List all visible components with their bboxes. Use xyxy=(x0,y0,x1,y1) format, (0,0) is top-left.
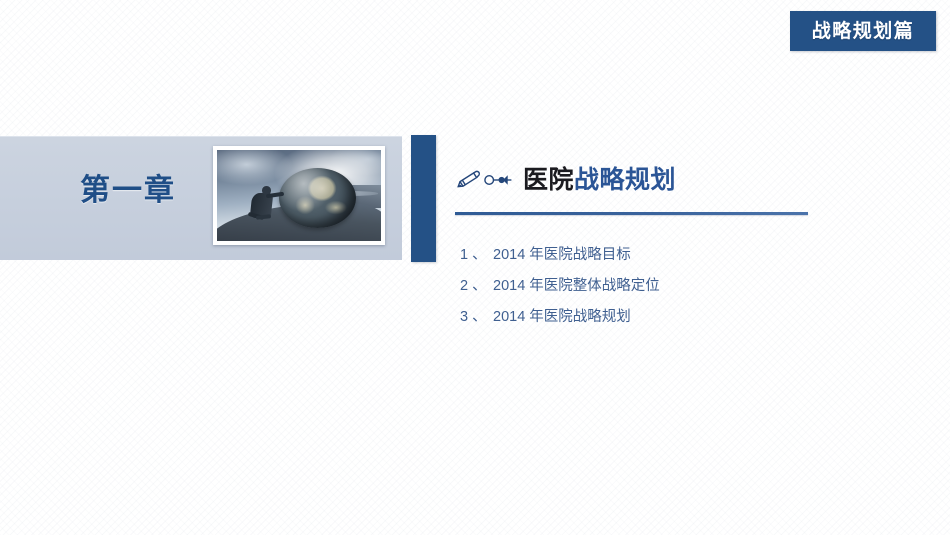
list-item-number: 1 、 xyxy=(460,240,493,271)
pencil-icon xyxy=(455,170,481,190)
list-item-number: 2 、 xyxy=(460,271,493,302)
chapter-photo-frame xyxy=(213,146,385,245)
page-title-accent: 战略规划 xyxy=(574,166,676,194)
list-item-label: 2014 年医院战略规划 xyxy=(493,302,631,333)
list-item[interactable]: 3 、 2014 年医院战略规划 xyxy=(460,302,840,333)
section-badge-label: 战略规划篇 xyxy=(812,22,915,41)
list-item-number: 3 、 xyxy=(460,302,493,333)
page-title-primary: 医院 xyxy=(523,166,574,194)
chapter-title: 第一章 xyxy=(48,176,208,206)
slide-canvas: 战略规划篇 第一章 xyxy=(0,0,950,535)
section-badge: 战略规划篇 xyxy=(790,11,936,51)
list-item[interactable]: 1 、 2014 年医院战略目标 xyxy=(460,240,840,271)
list-item-label: 2014 年医院整体战略定位 xyxy=(493,271,660,302)
heading-underline xyxy=(455,212,808,215)
list-item[interactable]: 2 、 2014 年医院整体战略定位 xyxy=(460,271,840,302)
page-title: 医院战略规划 xyxy=(523,168,676,193)
heading-row: 医院战略规划 xyxy=(455,160,855,200)
globe-push-photo xyxy=(217,150,381,241)
accent-divider-bar xyxy=(411,135,436,262)
content-area: 医院战略规划 1 、 2014 年医院战略目标 2 、 2014 年医院整体战略… xyxy=(455,160,855,200)
link-connector-icon xyxy=(483,171,513,189)
heading-icon-group xyxy=(455,170,523,190)
agenda-list: 1 、 2014 年医院战略目标 2 、 2014 年医院整体战略定位 3 、 … xyxy=(460,240,840,333)
list-item-label: 2014 年医院战略目标 xyxy=(493,240,631,271)
